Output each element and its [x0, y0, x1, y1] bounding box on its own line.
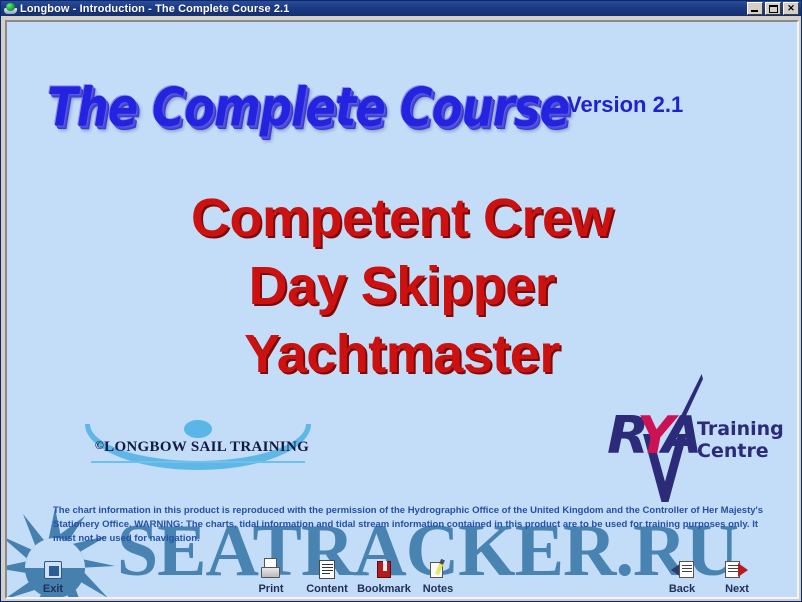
longbow-logo-name: LONGBOW SAIL TRAINING	[104, 439, 309, 455]
window-title: Longbow - Introduction - The Complete Co…	[20, 3, 289, 15]
print-label: Print	[239, 583, 303, 595]
client-area: The Complete Course Version 2.1 Competen…	[5, 20, 799, 599]
printer-icon	[258, 558, 284, 582]
notes-label: Notes	[406, 583, 470, 595]
course-intro-page: The Complete Course Version 2.1 Competen…	[7, 22, 797, 597]
next-button[interactable]: Next	[705, 558, 769, 595]
rya-training-line: Training	[697, 418, 784, 440]
next-arrow-icon	[724, 558, 750, 582]
content-button[interactable]: Content	[295, 558, 359, 595]
copyright-symbol: ©	[95, 438, 104, 452]
exit-icon	[40, 558, 66, 582]
course-list: Competent Crew Day Skipper Yachtmaster	[7, 184, 797, 388]
bow-knob-icon	[184, 420, 212, 438]
print-button[interactable]: Print	[239, 558, 303, 595]
next-label: Next	[705, 583, 769, 595]
minimize-button[interactable]	[747, 2, 763, 15]
bow-string-icon	[91, 461, 305, 463]
banner: The Complete Course Version 2.1	[7, 74, 797, 142]
restore-button[interactable]	[765, 2, 781, 15]
exit-label: Exit	[21, 583, 85, 595]
rya-training-centre-text: Training Centre	[697, 418, 784, 462]
course-day-skipper: Day Skipper	[7, 252, 797, 320]
back-arrow-icon	[669, 558, 695, 582]
application-window: Longbow - Introduction - The Complete Co…	[0, 0, 802, 602]
rya-centre-line: Centre	[697, 440, 784, 462]
content-label: Content	[295, 583, 359, 595]
close-button[interactable]: ✕	[783, 2, 799, 15]
course-competent-crew: Competent Crew	[7, 184, 797, 252]
exit-button[interactable]: Exit	[21, 558, 85, 595]
restore-icon	[769, 5, 778, 13]
document-lines-icon	[314, 558, 340, 582]
banner-title: The Complete Course	[47, 76, 569, 139]
bookmark-icon	[371, 558, 397, 582]
minimize-icon	[751, 10, 758, 12]
bottom-toolbar: Exit Print	[7, 558, 797, 597]
notes-button[interactable]: Notes	[406, 558, 470, 595]
longbow-sail-training-logo: ©LONGBOW SAIL TRAINING	[85, 418, 315, 474]
close-icon: ✕	[787, 4, 795, 13]
window-controls: ✕	[747, 2, 801, 15]
longbow-logo-text: ©LONGBOW SAIL TRAINING	[89, 438, 315, 456]
version-label: Version 2.1	[567, 92, 683, 118]
notes-pencil-icon	[425, 558, 451, 582]
legal-fine-print: The chart information in this product is…	[53, 504, 765, 546]
window-titlebar[interactable]: Longbow - Introduction - The Complete Co…	[1, 1, 802, 16]
globe-icon	[4, 2, 17, 15]
rya-training-centre-logo: R Y A Training Centre	[607, 374, 787, 502]
